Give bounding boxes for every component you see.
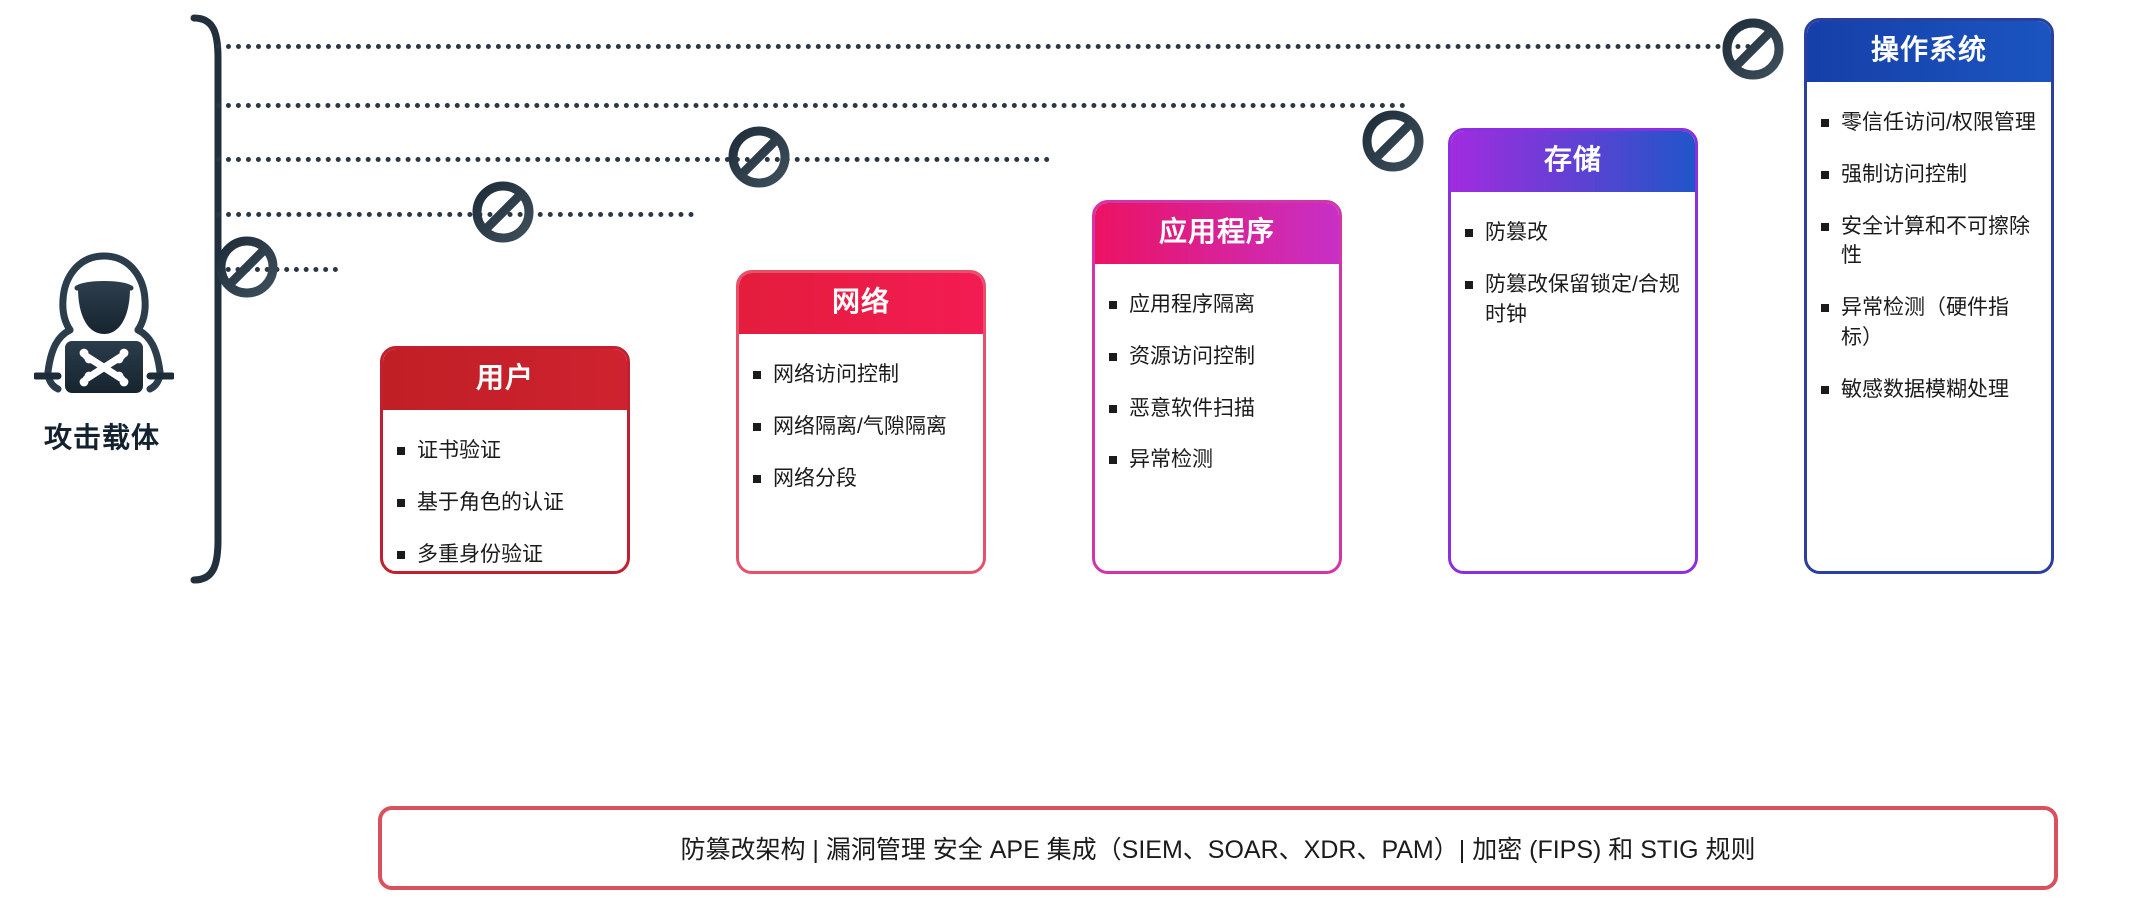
layer-card-operating-system[interactable]: 操作系统 零信任访问/权限管理 强制访问控制 安全计算和不可擦除性 异常检测（硬…	[1804, 18, 2054, 574]
list-item: 防篡改保留锁定/合规时钟	[1465, 270, 1681, 330]
list-item: 网络访问控制	[753, 360, 969, 390]
layer-title-operating-system: 操作系统	[1804, 18, 2054, 82]
bullet-square-icon	[1109, 405, 1117, 413]
list-item: 零信任访问/权限管理	[1821, 108, 2037, 138]
bullet-square-icon	[1821, 386, 1829, 394]
bullet-square-icon	[397, 447, 405, 455]
list-item: 资源访问控制	[1109, 342, 1325, 372]
list-item: 证书验证	[397, 436, 613, 466]
layer-items-user: 证书验证 基于角色的认证 多重身份验证 仲裁批准	[383, 410, 627, 574]
bullet-square-icon	[397, 499, 405, 507]
foundation-banner-text: 防篡改架构 | 漏洞管理 安全 APE 集成（SIEM、SOAR、XDR、PAM…	[680, 830, 1755, 866]
bullet-square-icon	[753, 371, 761, 379]
bullet-square-icon	[1821, 171, 1829, 179]
bullet-square-icon	[1821, 119, 1829, 127]
list-item: 防篡改	[1465, 218, 1681, 248]
layer-card-application[interactable]: 应用程序 应用程序隔离 资源访问控制 恶意软件扫描 异常检测	[1092, 200, 1342, 574]
bullet-square-icon	[1465, 281, 1473, 289]
prohibition-no-entry-icon	[728, 126, 790, 188]
layer-items-storage: 防篡改 防篡改保留锁定/合规时钟	[1451, 192, 1695, 361]
list-item: 安全计算和不可擦除性	[1821, 212, 2037, 272]
list-item: 强制访问控制	[1821, 160, 2037, 190]
bullet-square-icon	[1821, 223, 1829, 231]
attack-vector-label: 攻击载体	[12, 416, 192, 456]
prohibition-no-entry-icon	[216, 236, 278, 298]
bullet-square-icon	[397, 551, 405, 559]
layer-items-operating-system: 零信任访问/权限管理 强制访问控制 安全计算和不可擦除性 异常检测（硬件指标） …	[1807, 82, 2051, 437]
list-item: 恶意软件扫描	[1109, 394, 1325, 424]
list-item: 异常检测	[1109, 445, 1325, 475]
prohibition-no-entry-icon	[1362, 110, 1424, 172]
bullet-square-icon	[753, 475, 761, 483]
list-item: 网络分段	[753, 464, 969, 494]
list-item: 多重身份验证	[397, 540, 613, 570]
layer-items-application: 应用程序隔离 资源访问控制 恶意软件扫描 异常检测	[1095, 264, 1339, 507]
layer-items-network: 网络访问控制 网络隔离/气隙隔离 网络分段	[739, 334, 983, 525]
prohibition-no-entry-icon	[472, 181, 534, 243]
attack-path-line-storage	[216, 103, 1406, 108]
diagram-canvas: 攻击载体	[0, 0, 2146, 916]
list-item: 敏感数据模糊处理	[1821, 375, 2037, 405]
attack-vector-group: 攻击载体	[12, 248, 192, 478]
prohibition-no-entry-icon	[1722, 18, 1784, 80]
list-item: 异常检测（硬件指标）	[1821, 293, 2037, 353]
foundation-banner: 防篡改架构 | 漏洞管理 安全 APE 集成（SIEM、SOAR、XDR、PAM…	[378, 806, 2058, 890]
bullet-square-icon	[1821, 304, 1829, 312]
bullet-square-icon	[1109, 353, 1117, 361]
hacker-hoodie-laptop-icon	[34, 248, 174, 408]
layer-card-network[interactable]: 网络 网络访问控制 网络隔离/气隙隔离 网络分段	[736, 270, 986, 574]
attack-surface-bracket	[188, 14, 228, 584]
layer-title-network: 网络	[736, 270, 986, 334]
attack-path-line-network	[216, 212, 694, 217]
bullet-square-icon	[1109, 456, 1117, 464]
layer-title-user: 用户	[380, 346, 630, 410]
list-item: 网络隔离/气隙隔离	[753, 412, 969, 442]
bullet-square-icon	[1465, 229, 1473, 237]
bullet-square-icon	[753, 423, 761, 431]
layer-title-storage: 存储	[1448, 128, 1698, 192]
attack-path-line-application	[216, 157, 1050, 162]
layer-card-user[interactable]: 用户 证书验证 基于角色的认证 多重身份验证 仲裁批准	[380, 346, 630, 574]
layer-card-storage[interactable]: 存储 防篡改 防篡改保留锁定/合规时钟	[1448, 128, 1698, 574]
attack-path-line-os	[216, 44, 1762, 49]
list-item: 基于角色的认证	[397, 488, 613, 518]
list-item: 应用程序隔离	[1109, 290, 1325, 320]
layer-title-application: 应用程序	[1092, 200, 1342, 264]
bullet-square-icon	[1109, 301, 1117, 309]
